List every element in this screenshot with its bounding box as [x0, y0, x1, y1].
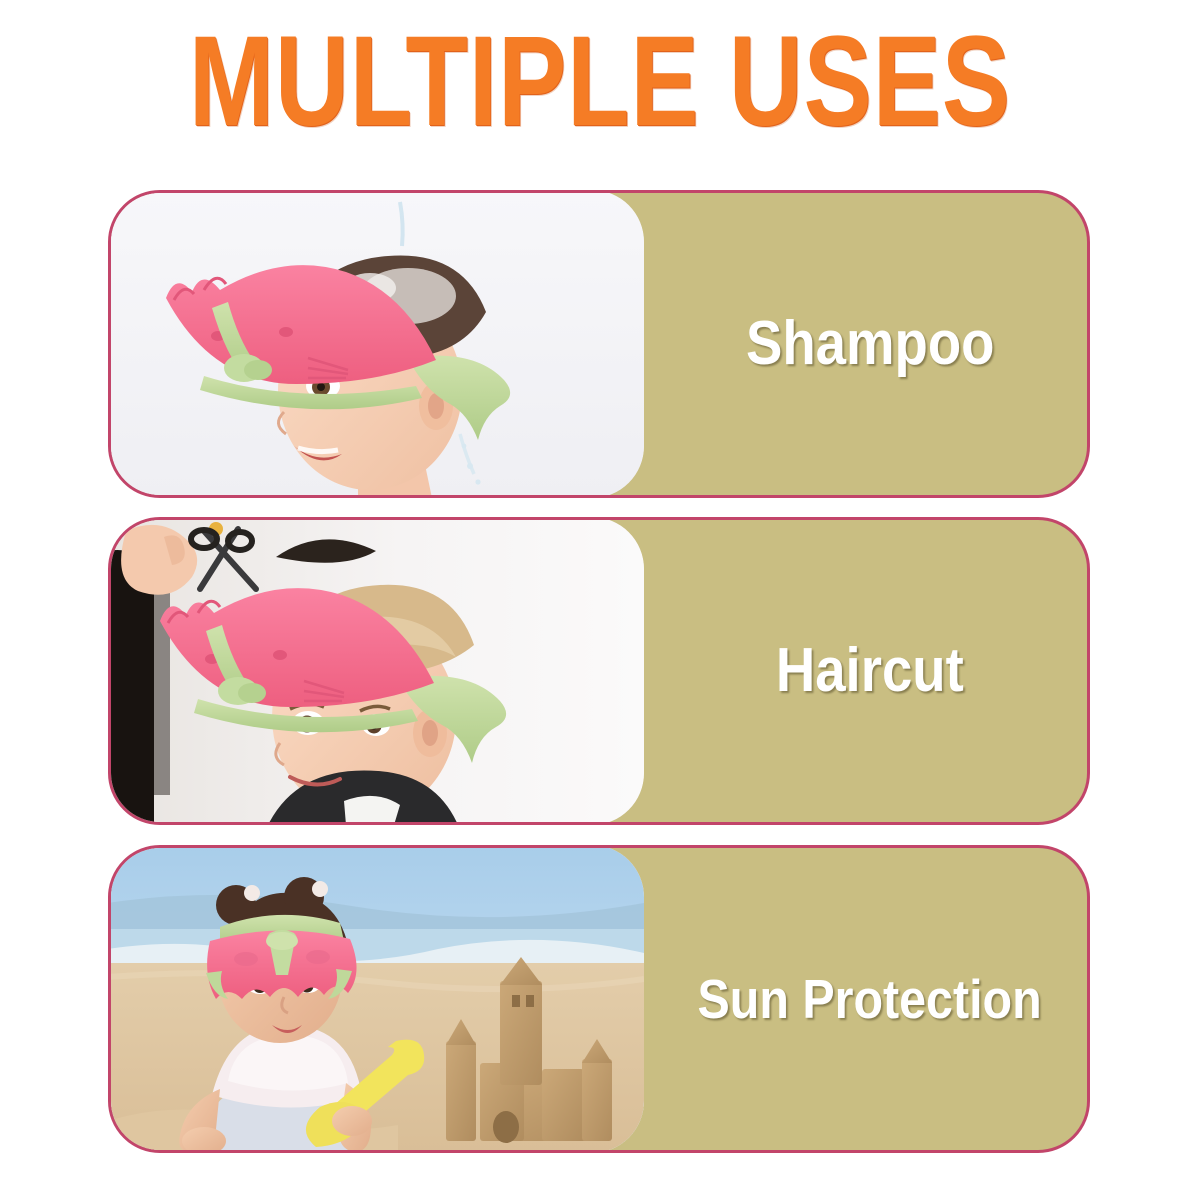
- card-label-sun-protection: Sun Protection: [698, 972, 1042, 1027]
- use-case-card-shampoo[interactable]: Shampoo: [108, 190, 1090, 498]
- card-label-shampoo: Shampoo: [746, 313, 995, 375]
- photo-haircut: [108, 517, 644, 825]
- title-container: MULTIPLE USES: [0, 18, 1200, 146]
- infographic-page: MULTIPLE USES: [0, 0, 1200, 1200]
- label-zone-sun-protection: Sun Protection: [647, 848, 1090, 1150]
- page-title: MULTIPLE USES: [189, 18, 1011, 146]
- use-case-card-sun-protection[interactable]: Sun Protection: [108, 845, 1090, 1153]
- card-label-haircut: Haircut: [776, 640, 964, 702]
- photo-shampoo: [108, 190, 644, 498]
- label-zone-haircut: Haircut: [647, 520, 1090, 822]
- label-zone-shampoo: Shampoo: [647, 193, 1090, 495]
- photo-sun-protection: [108, 845, 644, 1153]
- use-case-card-haircut[interactable]: Haircut: [108, 517, 1090, 825]
